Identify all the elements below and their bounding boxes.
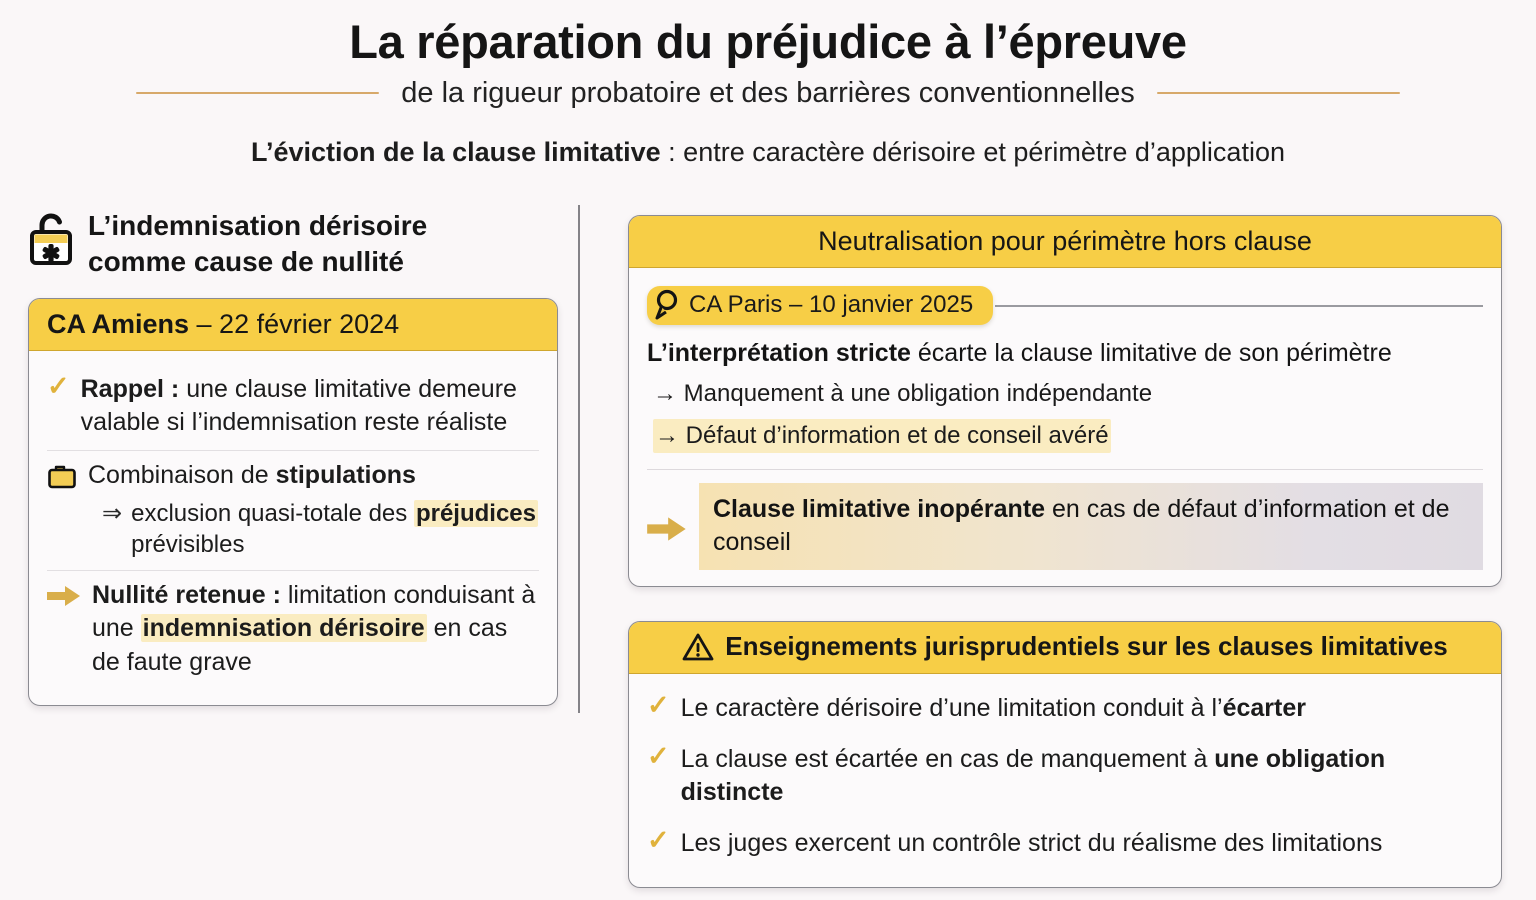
folder-icon (47, 459, 77, 490)
card-enseignements[interactable]: Enseignements jurisprudentiels sur les c… (628, 621, 1502, 887)
subline-post: prévisibles (131, 531, 244, 558)
warn-head-row: Enseignements jurisprudentiels sur les c… (647, 631, 1483, 662)
card-ca-amiens-court: CA Amiens (47, 309, 189, 339)
subtitle-row: de la rigueur probatoire et des barrière… (0, 77, 1536, 110)
page-subtitle: de la rigueur probatoire et des barrière… (401, 77, 1135, 110)
page-title: La réparation du préjudice à l’épreuve (0, 16, 1536, 69)
column-divider (578, 205, 580, 713)
lead-strong: L’interprétation stricte (647, 339, 911, 367)
check-icon: ✓ (647, 743, 670, 770)
card-enseignements-title: Enseignements jurisprudentiels sur les c… (725, 631, 1448, 662)
bullet-text: Rappel : une clause limitative demeure v… (81, 373, 539, 440)
badge-ca-paris-label: CA Paris – 10 janvier 2025 (689, 291, 973, 318)
bullet-pre: Le caractère dérisoire d’une limitation … (681, 694, 1223, 722)
bullet-subline: ⇒ exclusion quasi-totale des préjudices … (88, 498, 539, 560)
list-item: Nullité retenue : limitation conduisant … (47, 570, 539, 689)
conclusion-row: Clause limitative inopérante en cas de d… (647, 469, 1483, 570)
check-icon: ✓ (647, 827, 670, 854)
bullet-subline-text: exclusion quasi-totale des préjudices pr… (131, 498, 539, 560)
list-item: ✓ Les juges exercent un contrôle strict … (647, 819, 1483, 870)
arrow-item-text: → Défaut d’information et de conseil avé… (653, 419, 1111, 454)
warning-triangle-icon (682, 632, 714, 662)
rule-left (136, 92, 379, 94)
bullet-text: La clause est écartée en cas de manqueme… (681, 743, 1483, 810)
subline-pre: exclusion quasi-totale des (131, 500, 414, 527)
section-subtitle: L’éviction de la clause limitative : ent… (0, 136, 1536, 168)
rule-right (1157, 92, 1400, 94)
arrow-right-icon (47, 579, 81, 608)
bullet-strong: Nullité retenue : (92, 581, 281, 609)
check-icon: ✓ (47, 373, 70, 400)
list-item: Combinaison de stipulations ⇒ exclusion … (47, 450, 539, 571)
card-ca-amiens-date: – 22 février 2024 (189, 309, 399, 339)
left-heading-line-1: L’indemnisation dérisoire (88, 208, 427, 244)
section-subtitle-strong: L’éviction de la clause limitative (251, 137, 661, 167)
card-enseignements-body: ✓ Le caractère dérisoire d’une limitatio… (629, 674, 1501, 887)
bullet-text: Les juges exercent un contrôle strict du… (681, 827, 1483, 860)
list-item: → Défaut d’information et de conseil avé… (653, 419, 1483, 454)
list-item: ✓ Le caractère dérisoire d’une limitatio… (647, 684, 1483, 735)
list-item: → Manquement à une obligation indépendan… (653, 377, 1483, 412)
right-column: Neutralisation pour périmètre hors claus… (628, 215, 1502, 888)
card-ca-amiens[interactable]: CA Amiens – 22 février 2024 ✓ Rappel : u… (28, 298, 558, 706)
bullet-pre: Combinaison de (88, 461, 276, 489)
left-column: L’indemnisation dérisoire comme cause de… (28, 208, 558, 706)
bullet-strong: écarter (1223, 694, 1306, 722)
bullet-pre: Les juges exercent un contrôle strict du… (681, 829, 1383, 857)
card-ca-amiens-body: ✓ Rappel : une clause limitative demeure… (29, 351, 557, 705)
chip-row: CA Paris – 10 janvier 2025 (647, 286, 1483, 325)
bullet-text: Combinaison de stipulations ⇒ exclusion … (88, 459, 539, 561)
card-neutralisation[interactable]: Neutralisation pour périmètre hors claus… (628, 215, 1502, 587)
card-neutralisation-lead: L’interprétation stricte écarte la claus… (647, 337, 1483, 370)
list-item: ✓ La clause est écartée en cas de manque… (647, 735, 1483, 820)
conclusion-banner: Clause limitative inopérante en cas de d… (699, 483, 1483, 570)
bullet-pre: La clause est écartée en cas de manqueme… (681, 745, 1215, 773)
left-heading-line-2: comme cause de nullité (88, 244, 427, 280)
card-neutralisation-header: Neutralisation pour périmètre hors claus… (629, 216, 1501, 268)
open-padlock-icon (28, 208, 74, 266)
subline-strong: préjudices (414, 500, 538, 527)
double-arrow-icon: ⇒ (102, 498, 122, 560)
bullet-text: Nullité retenue : limitation conduisant … (92, 579, 539, 679)
bullet-text: Le caractère dérisoire d’une limitation … (681, 692, 1483, 725)
arrow-item-text: → Manquement à une obligation indépendan… (653, 377, 1152, 412)
magnifier-icon (653, 288, 685, 329)
slide-header: La réparation du préjudice à l’épreuve d… (0, 0, 1536, 168)
section-subtitle-rest: : entre caractère dérisoire et périmètre… (661, 137, 1285, 167)
card-ca-amiens-header: CA Amiens – 22 février 2024 (29, 299, 557, 351)
left-column-heading-text: L’indemnisation dérisoire comme cause de… (88, 208, 427, 280)
left-column-heading: L’indemnisation dérisoire comme cause de… (28, 208, 558, 280)
card-neutralisation-body: CA Paris – 10 janvier 2025 L’interprétat… (629, 268, 1501, 586)
bullet-strong-2: indemnisation dérisoire (141, 614, 427, 642)
conclusion-strong: Clause limitative inopérante (713, 495, 1045, 523)
bullet-strong: stipulations (276, 461, 416, 489)
list-item: ✓ Rappel : une clause limitative demeure… (47, 365, 539, 450)
lead-rest: écarte la clause limitative de son périm… (911, 339, 1392, 367)
chip-trailing-rule (995, 305, 1483, 307)
card-enseignements-header: Enseignements jurisprudentiels sur les c… (629, 622, 1501, 673)
arrow-right-icon (647, 510, 687, 543)
bullet-strong: Rappel : (81, 375, 180, 403)
check-icon: ✓ (647, 692, 670, 719)
badge-ca-paris[interactable]: CA Paris – 10 janvier 2025 (647, 286, 993, 325)
